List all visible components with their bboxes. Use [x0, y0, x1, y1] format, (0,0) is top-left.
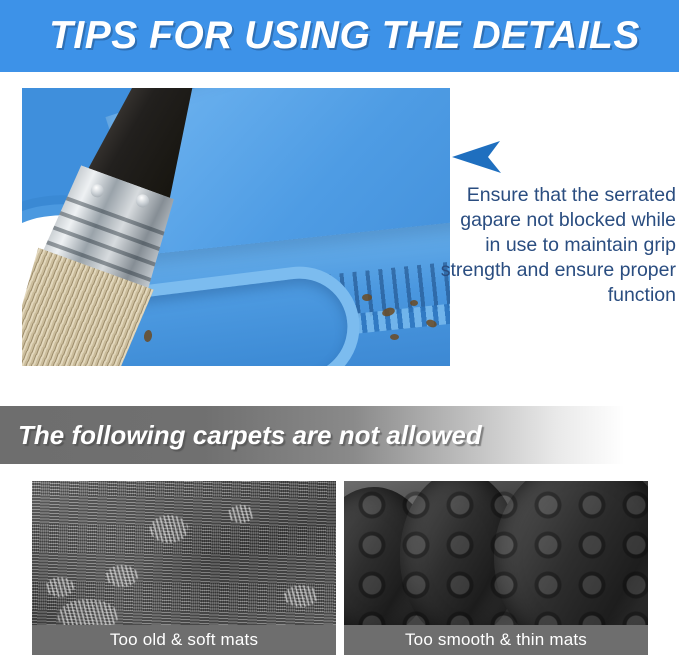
carpet-fuzz: [228, 505, 254, 523]
carpet-fuzz: [284, 585, 318, 607]
warning-banner-title: The following carpets are not allowed: [0, 420, 482, 451]
carpet-fuzz: [46, 577, 74, 597]
carpet-fuzz: [106, 565, 138, 587]
left-arrow-icon: [452, 141, 502, 174]
page-title: TIPS FOR USING THE DETAILS: [0, 14, 679, 58]
rubber-mat-photo: [344, 481, 648, 633]
debris-speck: [390, 334, 399, 340]
panel-too-old-soft-mats: Too old & soft mats: [32, 481, 336, 655]
panel-caption-too-smooth-thin-mats: Too smooth & thin mats: [344, 625, 648, 655]
ferrule-nail: [89, 182, 106, 199]
debris-speck: [362, 294, 372, 301]
carpet-fuzz: [150, 515, 188, 543]
hero-callout-text: Ensure that the serrated gapare not bloc…: [440, 183, 676, 308]
ferrule-nail: [134, 193, 151, 210]
warning-banner: The following carpets are not allowed: [0, 406, 679, 464]
debris-speck: [410, 300, 418, 306]
carpet-old-photo: [32, 481, 336, 633]
panel-too-smooth-thin-mats: Too smooth & thin mats: [344, 481, 648, 655]
hero-product-photo: [22, 88, 450, 366]
rubber-mat-studs: [344, 481, 648, 633]
header-banner: TIPS FOR USING THE DETAILS: [0, 0, 679, 72]
panel-caption-too-old-soft-mats: Too old & soft mats: [32, 625, 336, 655]
